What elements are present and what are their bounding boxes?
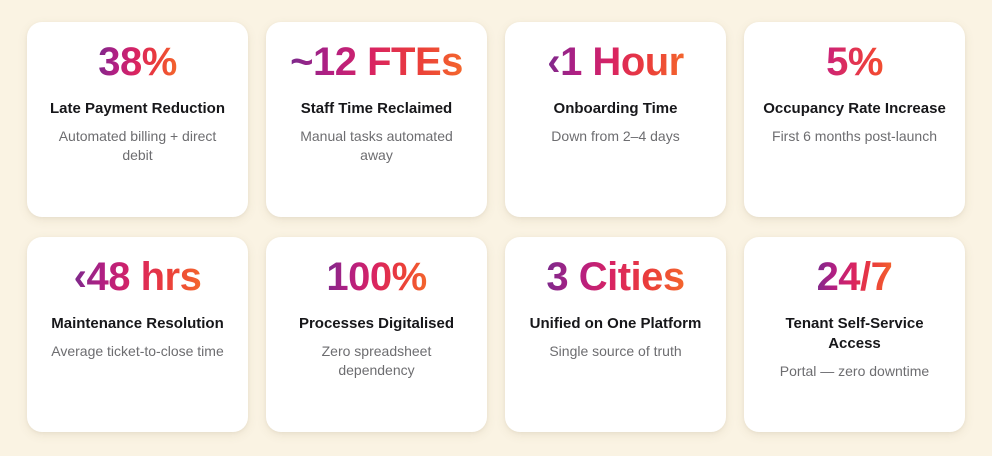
- stat-caption: Automated billing + direct debit: [45, 127, 231, 166]
- stat-value: ‹1 Hour: [547, 40, 684, 85]
- stat-label: Unified on One Platform: [530, 314, 702, 334]
- stat-card: 24/7 Tenant Self-Service Access Portal —…: [744, 237, 965, 432]
- stat-card: 5% Occupancy Rate Increase First 6 month…: [744, 22, 965, 217]
- stat-caption: Manual tasks automated away: [284, 127, 470, 166]
- stat-card: 38% Late Payment Reduction Automated bil…: [27, 22, 248, 217]
- stat-value: 3 Cities: [546, 255, 684, 300]
- stat-value: 38%: [98, 40, 177, 85]
- stat-value: ‹48 hrs: [74, 255, 202, 300]
- stat-caption: Portal — zero downtime: [780, 362, 929, 381]
- stat-card: ~12 FTEs Staff Time Reclaimed Manual tas…: [266, 22, 487, 217]
- stat-value: 5%: [826, 40, 883, 85]
- stat-label: Tenant Self-Service Access: [760, 314, 950, 355]
- stat-caption: Average ticket-to-close time: [51, 342, 223, 361]
- stat-card: 3 Cities Unified on One Platform Single …: [505, 237, 726, 432]
- stat-label: Occupancy Rate Increase: [763, 99, 946, 119]
- stat-card: 100% Processes Digitalised Zero spreadsh…: [266, 237, 487, 432]
- stat-value: 24/7: [817, 255, 893, 300]
- stat-value: 100%: [326, 255, 426, 300]
- stat-label: Maintenance Resolution: [51, 314, 224, 334]
- stats-grid: 38% Late Payment Reduction Automated bil…: [0, 0, 992, 456]
- stat-label: Onboarding Time: [554, 99, 678, 119]
- stat-caption: Single source of truth: [549, 342, 681, 361]
- stat-caption: Down from 2–4 days: [551, 127, 679, 146]
- stat-label: Staff Time Reclaimed: [301, 99, 452, 119]
- stat-caption: Zero spreadsheet dependency: [284, 342, 470, 381]
- stat-caption: First 6 months post-launch: [772, 127, 937, 146]
- stat-card: ‹48 hrs Maintenance Resolution Average t…: [27, 237, 248, 432]
- stat-value: ~12 FTEs: [290, 40, 463, 85]
- stat-card: ‹1 Hour Onboarding Time Down from 2–4 da…: [505, 22, 726, 217]
- stat-label: Late Payment Reduction: [50, 99, 225, 119]
- stat-label: Processes Digitalised: [299, 314, 454, 334]
